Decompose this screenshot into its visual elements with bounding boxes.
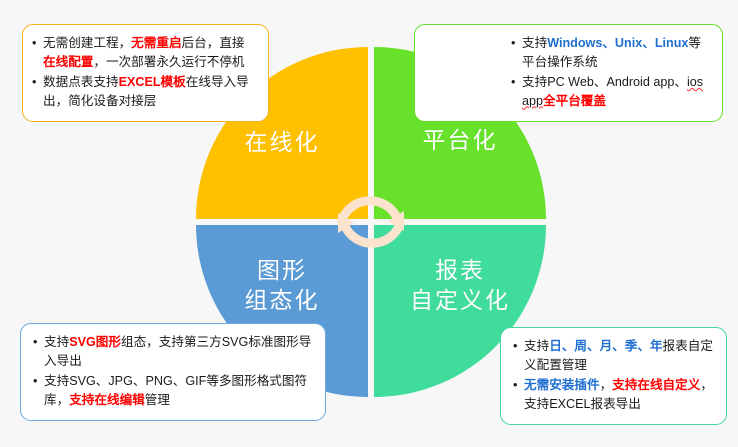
list-item-text: 支持Windows、Unix、Linux等平台操作系统 — [522, 36, 701, 69]
callout-online-list: • 无需创建工程，无需重启后台，直接在线配置，一次部署永久运行不停机 • 数据点… — [32, 34, 257, 110]
callout-cross-platform: • 支持Windows、Unix、Linux等平台操作系统 • 支持PC Web… — [414, 24, 723, 122]
list-item: • 支持日、周、月、季、年报表自定义配置管理 — [513, 337, 715, 374]
callout-online: • 无需创建工程，无需重启后台，直接在线配置，一次部署永久运行不停机 • 数据点… — [22, 24, 269, 122]
callout-report: • 支持日、周、月、季、年报表自定义配置管理 • 无需安装插件，支持在线自定义，… — [500, 327, 727, 425]
list-item: • 支持PC Web、Android app、ios app全平台覆盖 — [511, 73, 711, 110]
quadrant-report-label: 报表 自定义化 — [374, 255, 546, 315]
list-item: • 无需创建工程，无需重启后台，直接在线配置，一次部署永久运行不停机 — [32, 34, 257, 71]
list-item: • 支持Windows、Unix、Linux等平台操作系统 — [511, 34, 711, 71]
bullet-glyph: • — [511, 73, 515, 92]
bullet-glyph: • — [33, 333, 37, 352]
quadrant-graphics-label: 图形 组态化 — [196, 255, 368, 315]
callout-report-list: • 支持日、周、月、季、年报表自定义配置管理 • 无需安装插件，支持在线自定义，… — [513, 337, 715, 413]
bullet-glyph: • — [32, 73, 36, 92]
list-item-text: 数据点表支持EXCEL模板在线导入导出，简化设备对接层 — [43, 75, 249, 108]
list-item-text: 无需安装插件，支持在线自定义，支持EXCEL报表导出 — [524, 378, 713, 411]
list-item: • 无需安装插件，支持在线自定义，支持EXCEL报表导出 — [513, 376, 715, 413]
bullet-glyph: • — [32, 34, 36, 53]
list-item-text: 支持PC Web、Android app、ios app全平台覆盖 — [522, 75, 703, 108]
quadrant-online-label: 在线化 — [196, 127, 368, 157]
infographic-canvas: 在线化 跨 平台化 图形 组态化 报表 自定义化 • 无需创建工程，无需重启后台… — [0, 0, 738, 447]
list-item-text: 支持SVG、JPG、PNG、GIF等多图形格式图符库，支持在线编辑管理 — [44, 374, 307, 407]
bullet-glyph: • — [513, 376, 517, 395]
list-item-text: 无需创建工程，无需重启后台，直接在线配置，一次部署永久运行不停机 — [43, 36, 245, 69]
callout-graphics: • 支持SVG图形组态，支持第三方SVG标准图形导入导出 • 支持SVG、JPG… — [20, 323, 326, 421]
bullet-glyph: • — [511, 34, 515, 53]
callout-cross-platform-list: • 支持Windows、Unix、Linux等平台操作系统 • 支持PC Web… — [511, 34, 711, 110]
list-item: • 支持SVG、JPG、PNG、GIF等多图形格式图符库，支持在线编辑管理 — [33, 372, 314, 409]
list-item-text: 支持SVG图形组态，支持第三方SVG标准图形导入导出 — [44, 335, 311, 368]
bullet-glyph: • — [513, 337, 517, 356]
bullet-glyph: • — [33, 372, 37, 391]
callout-graphics-list: • 支持SVG图形组态，支持第三方SVG标准图形导入导出 • 支持SVG、JPG… — [33, 333, 314, 409]
list-item: • 数据点表支持EXCEL模板在线导入导出，简化设备对接层 — [32, 73, 257, 110]
list-item-text: 支持日、周、月、季、年报表自定义配置管理 — [524, 339, 713, 372]
list-item: • 支持SVG图形组态，支持第三方SVG标准图形导入导出 — [33, 333, 314, 370]
